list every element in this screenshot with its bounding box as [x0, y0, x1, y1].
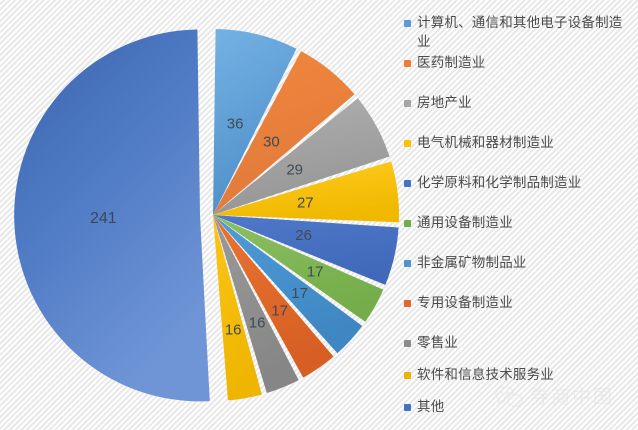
- legend-color-swatch: [404, 20, 411, 27]
- legend-color-swatch: [404, 60, 411, 67]
- pie-slice-value-label: 17: [291, 285, 308, 302]
- chart-legend: 计算机、通信和其他电子设备制造业医药制造业房地产业电气机械和器材制造业化学原料和…: [404, 6, 638, 426]
- legend-color-swatch: [404, 372, 411, 379]
- legend-item-label: 计算机、通信和其他电子设备制造业: [417, 14, 630, 52]
- legend-item-label: 零售业: [417, 334, 458, 353]
- watermark: 券商中国: [494, 382, 614, 409]
- legend-item[interactable]: 通用设备制造业: [404, 214, 630, 233]
- pie-slice-value-label: 17: [271, 302, 288, 319]
- pie-slice-value-label: 241: [90, 210, 117, 227]
- pie-slice-value-label: 17: [307, 263, 324, 280]
- pie-slice-value-label: 30: [263, 134, 280, 151]
- legend-color-swatch: [404, 100, 411, 107]
- legend-item[interactable]: 电气机械和器材制造业: [404, 134, 630, 153]
- legend-item-label: 化学原料和化学制品制造业: [417, 174, 581, 193]
- legend-item-label: 医药制造业: [417, 54, 486, 73]
- legend-color-swatch: [404, 140, 411, 147]
- legend-color-swatch: [404, 260, 411, 267]
- legend-item-label: 房地产业: [417, 94, 472, 113]
- wechat-icon: [494, 384, 524, 408]
- legend-color-swatch: [404, 180, 411, 187]
- legend-item-label: 电气机械和器材制造业: [417, 134, 554, 153]
- legend-item[interactable]: 医药制造业: [404, 54, 630, 73]
- pie-slice-value-label: 16: [225, 321, 242, 338]
- pie-slice-value-label: 26: [295, 227, 312, 244]
- legend-item-label: 其他: [417, 398, 444, 417]
- legend-color-swatch: [404, 220, 411, 227]
- pie-slice-value-label: 29: [286, 161, 303, 178]
- legend-item[interactable]: 化学原料和化学制品制造业: [404, 174, 630, 193]
- pie-slice-value-label: 36: [227, 116, 244, 133]
- legend-item-label: 专用设备制造业: [417, 294, 513, 313]
- pie-slice-value-label: 16: [249, 315, 266, 332]
- legend-item[interactable]: 非金属矿物制品业: [404, 254, 630, 273]
- legend-color-swatch: [404, 340, 411, 347]
- legend-item[interactable]: 零售业: [404, 334, 630, 353]
- pie-chart-svg: 36302927261717171616241: [0, 0, 400, 430]
- pie-slices: [14, 29, 399, 401]
- legend-item[interactable]: 计算机、通信和其他电子设备制造业: [404, 14, 630, 52]
- watermark-text: 券商中国: [530, 382, 614, 409]
- legend-item[interactable]: 专用设备制造业: [404, 294, 630, 313]
- pie-chart-area: 36302927261717171616241: [0, 0, 400, 430]
- chart-page: 36302927261717171616241 计算机、通信和其他电子设备制造业…: [0, 0, 638, 430]
- legend-item[interactable]: 房地产业: [404, 94, 630, 113]
- legend-color-swatch: [404, 300, 411, 307]
- pie-slice-value-label: 27: [297, 194, 314, 211]
- legend-item-label: 通用设备制造业: [417, 214, 513, 233]
- legend-color-swatch: [404, 404, 411, 411]
- legend-item-label: 非金属矿物制品业: [417, 254, 527, 273]
